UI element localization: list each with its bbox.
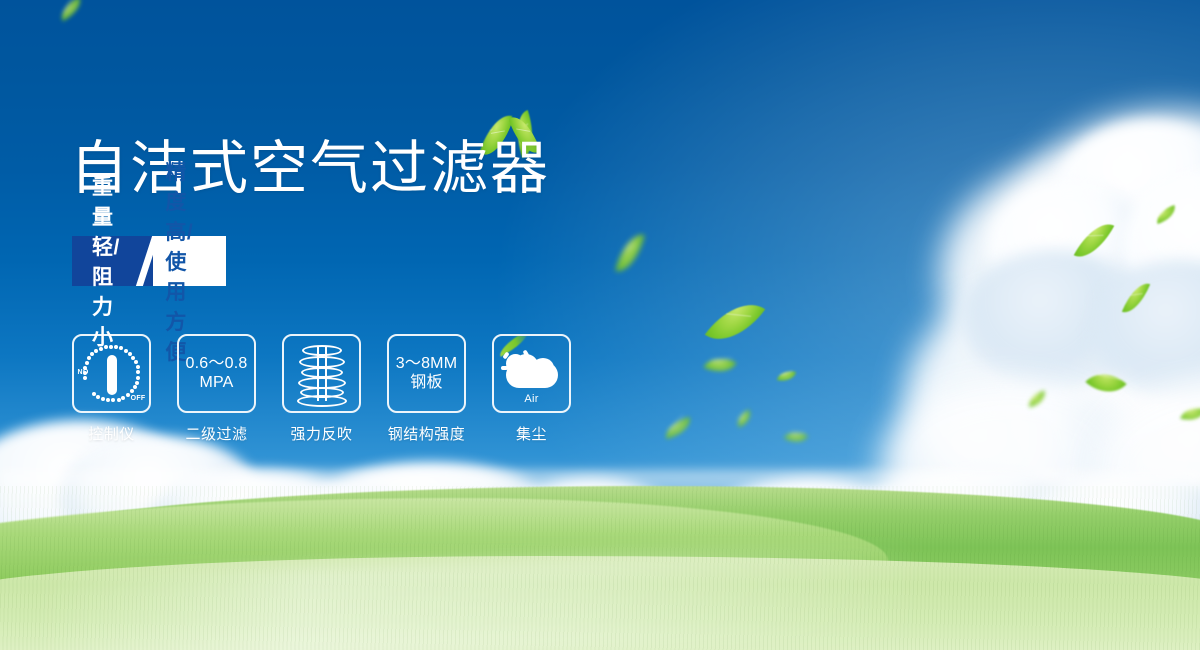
- gauge-tick: [104, 345, 108, 349]
- feature-item-controller[interactable]: NO OFF 控制仪: [72, 334, 151, 444]
- gauge-needle: [107, 355, 117, 395]
- feature-icon-box[interactable]: 0.6～0.8 MPA: [177, 334, 256, 413]
- gauge-icon: NO OFF: [77, 339, 147, 409]
- steel-thickness: 3～8MM: [396, 355, 457, 373]
- feature-item-steel-strength[interactable]: 3～8MM 钢板 钢结构强度: [387, 334, 466, 444]
- gauge-tick: [126, 393, 130, 397]
- air-label: Air: [500, 393, 564, 405]
- steel-material: 钢板: [396, 374, 457, 392]
- gauge-tick: [96, 395, 100, 399]
- gauge-tick: [135, 381, 139, 385]
- gauge-tick: [131, 356, 135, 360]
- gauge-tick: [106, 398, 110, 402]
- steel-text-icon: 3～8MM 钢板: [396, 355, 457, 392]
- gauge-tick: [136, 365, 140, 369]
- gauge-tick: [136, 370, 140, 374]
- grass-texture: [0, 486, 1200, 650]
- tagline-bar: 重量轻/阻力小 精度高/使用方便: [72, 236, 226, 286]
- feature-label: 强力反吹: [282, 423, 361, 444]
- gauge-tick: [87, 356, 91, 360]
- cloud-body: [506, 362, 558, 388]
- gauge-tick: [119, 346, 123, 350]
- gauge-tick: [99, 347, 103, 351]
- gauge-tick: [121, 396, 125, 400]
- gauge-tick: [90, 352, 94, 356]
- feature-item-two-stage-filter[interactable]: 0.6～0.8 MPA 二级过滤: [177, 334, 256, 444]
- pressure-unit: MPA: [186, 374, 248, 392]
- feature-label: 控制仪: [72, 423, 151, 444]
- gauge-tick: [83, 376, 87, 380]
- feature-label: 二级过滤: [177, 423, 256, 444]
- gauge-off-label: OFF: [131, 395, 146, 402]
- gauge-tick: [101, 397, 105, 401]
- cloud-air-icon: Air: [500, 346, 564, 402]
- feature-item-dust-collection[interactable]: Air 集尘: [492, 334, 571, 444]
- page-title: 自洁式空气过滤器: [70, 140, 550, 198]
- feature-list: NO OFF 控制仪 0.6～0.8 MPA 二级过滤: [72, 334, 571, 444]
- gauge-tick: [134, 360, 138, 364]
- feature-icon-box[interactable]: [282, 334, 361, 413]
- gauge-tick: [124, 349, 128, 353]
- feature-icon-box[interactable]: 3～8MM 钢板: [387, 334, 466, 413]
- pressure-range: 0.6～0.8: [186, 355, 248, 373]
- product-banner: 自洁式空气过滤器 重量轻/阻力小 精度高/使用方便 NO OFF 控制仪: [0, 0, 1200, 650]
- feature-icon-box[interactable]: NO OFF: [72, 334, 151, 413]
- gauge-tick: [114, 345, 118, 349]
- gauge-tick: [109, 345, 113, 349]
- gauge-tick: [133, 385, 137, 389]
- air-column-icon: [294, 343, 350, 405]
- feature-label: 钢结构强度: [387, 423, 466, 444]
- gauge-on-label: NO: [78, 369, 89, 376]
- gauge-tick: [94, 349, 98, 353]
- gauge-tick: [111, 398, 115, 402]
- gauge-tick: [136, 376, 140, 380]
- gauge-tick: [85, 361, 89, 365]
- gauge-tick: [128, 352, 132, 356]
- feature-item-strong-backblow[interactable]: 强力反吹: [282, 334, 361, 444]
- gauge-tick: [117, 398, 121, 402]
- feature-label: 集尘: [492, 423, 571, 444]
- gauge-tick: [130, 389, 134, 393]
- feature-icon-box[interactable]: Air: [492, 334, 571, 413]
- pressure-text-icon: 0.6～0.8 MPA: [186, 355, 248, 392]
